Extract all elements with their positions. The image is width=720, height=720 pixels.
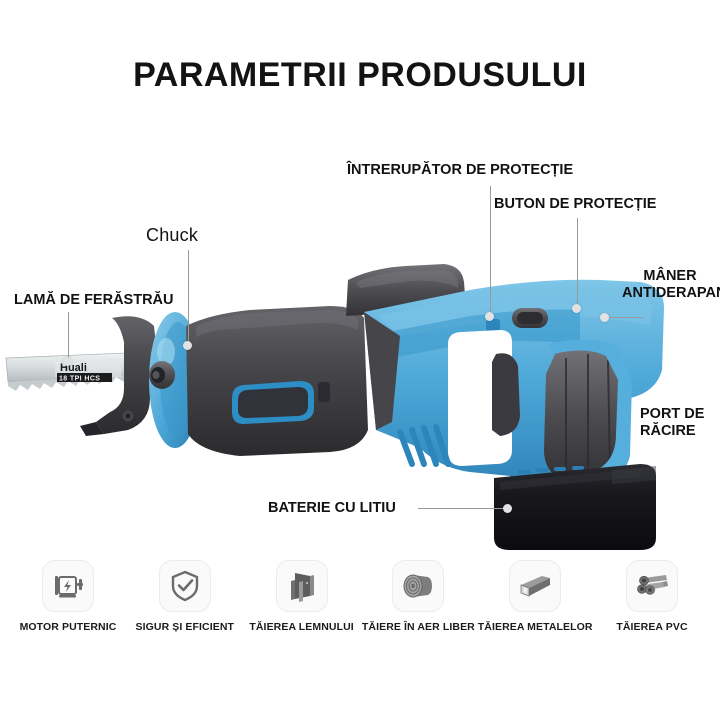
leader-dot-chuck xyxy=(183,341,192,350)
callout-grip-line2: ANTIDERAPANT xyxy=(622,285,718,302)
lithium-battery xyxy=(494,464,656,550)
leader-grip xyxy=(607,317,643,318)
callout-cooling-line1: PORT DE xyxy=(640,406,718,423)
feature-label: TĂIERE ÎN AER LIBER xyxy=(362,621,475,633)
leader-safety-button xyxy=(577,218,578,308)
feature-item: TĂIERE ÎN AER LIBER xyxy=(364,560,472,660)
chuck-nut xyxy=(149,361,175,389)
callout-cooling-line2: RĂCIRE xyxy=(640,423,718,440)
feature-item: TĂIEREA LEMNULUI xyxy=(248,560,356,660)
leader-dot-safety-button xyxy=(572,304,581,313)
saw-svg: Huali 18 TPI HCS xyxy=(0,130,720,550)
shield-check-icon xyxy=(170,570,200,602)
feature-tile xyxy=(159,560,211,612)
feature-tile xyxy=(509,560,561,612)
callout-safety-switch: ÎNTRERUPĂTOR DE PROTECȚIE xyxy=(347,162,573,179)
page-title: PARAMETRII PRODUSULUI xyxy=(0,56,720,95)
metal-tube-icon xyxy=(518,572,552,600)
feature-item: TĂIEREA PVC xyxy=(598,560,706,660)
leader-dot-safety-switch xyxy=(485,312,494,321)
feature-strip: MOTOR PUTERNIC SIGUR ȘI EFICIENT xyxy=(0,560,720,660)
callout-grip: MÂNER ANTIDERAPANT xyxy=(622,268,718,302)
callout-safety-button: BUTON DE PROTECȚIE xyxy=(494,196,656,213)
feature-tile xyxy=(626,560,678,612)
feature-label: TĂIEREA METALELOR xyxy=(478,621,593,633)
feature-tile xyxy=(42,560,94,612)
leader-dot-grip xyxy=(600,313,609,322)
motor-bolt-icon xyxy=(51,571,85,601)
feature-label: SIGUR ȘI EFICIENT xyxy=(136,621,235,633)
leader-dot-battery xyxy=(503,504,512,513)
leader-dot-saw-blade xyxy=(63,357,72,366)
product-parameters-page: PARAMETRII PRODUSULUI xyxy=(0,0,720,720)
safety-button-part[interactable] xyxy=(512,308,548,328)
callout-saw-blade: LAMĂ DE FERĂSTRĂU xyxy=(14,292,174,309)
blade-spec-text: 18 TPI HCS xyxy=(59,376,100,383)
log-round-icon xyxy=(401,571,435,601)
callout-battery: BATERIE CU LITIU xyxy=(268,500,396,517)
feature-label: MOTOR PUTERNIC xyxy=(20,621,117,633)
feature-label: TĂIEREA PVC xyxy=(616,621,687,633)
leader-chuck xyxy=(188,250,189,345)
leader-saw-blade xyxy=(68,312,69,360)
reciprocating-saw-illustration: Huali 18 TPI HCS xyxy=(0,130,720,550)
feature-item: MOTOR PUTERNIC xyxy=(14,560,122,660)
callout-grip-line1: MÂNER xyxy=(622,268,718,285)
feature-item: TĂIEREA METALELOR xyxy=(481,560,589,660)
feature-tile xyxy=(276,560,328,612)
feature-item: SIGUR ȘI EFICIENT xyxy=(131,560,239,660)
leader-safety-switch xyxy=(490,186,491,316)
feature-label: TĂIEREA LEMNULUI xyxy=(249,621,353,633)
wood-boards-icon xyxy=(286,570,318,602)
pvc-pipes-icon xyxy=(635,572,669,600)
saw-barrel xyxy=(186,306,368,456)
feature-tile xyxy=(392,560,444,612)
callout-chuck: Chuck xyxy=(146,225,198,246)
leader-battery xyxy=(418,508,508,509)
callout-cooling-port: PORT DE RĂCIRE xyxy=(640,406,718,440)
